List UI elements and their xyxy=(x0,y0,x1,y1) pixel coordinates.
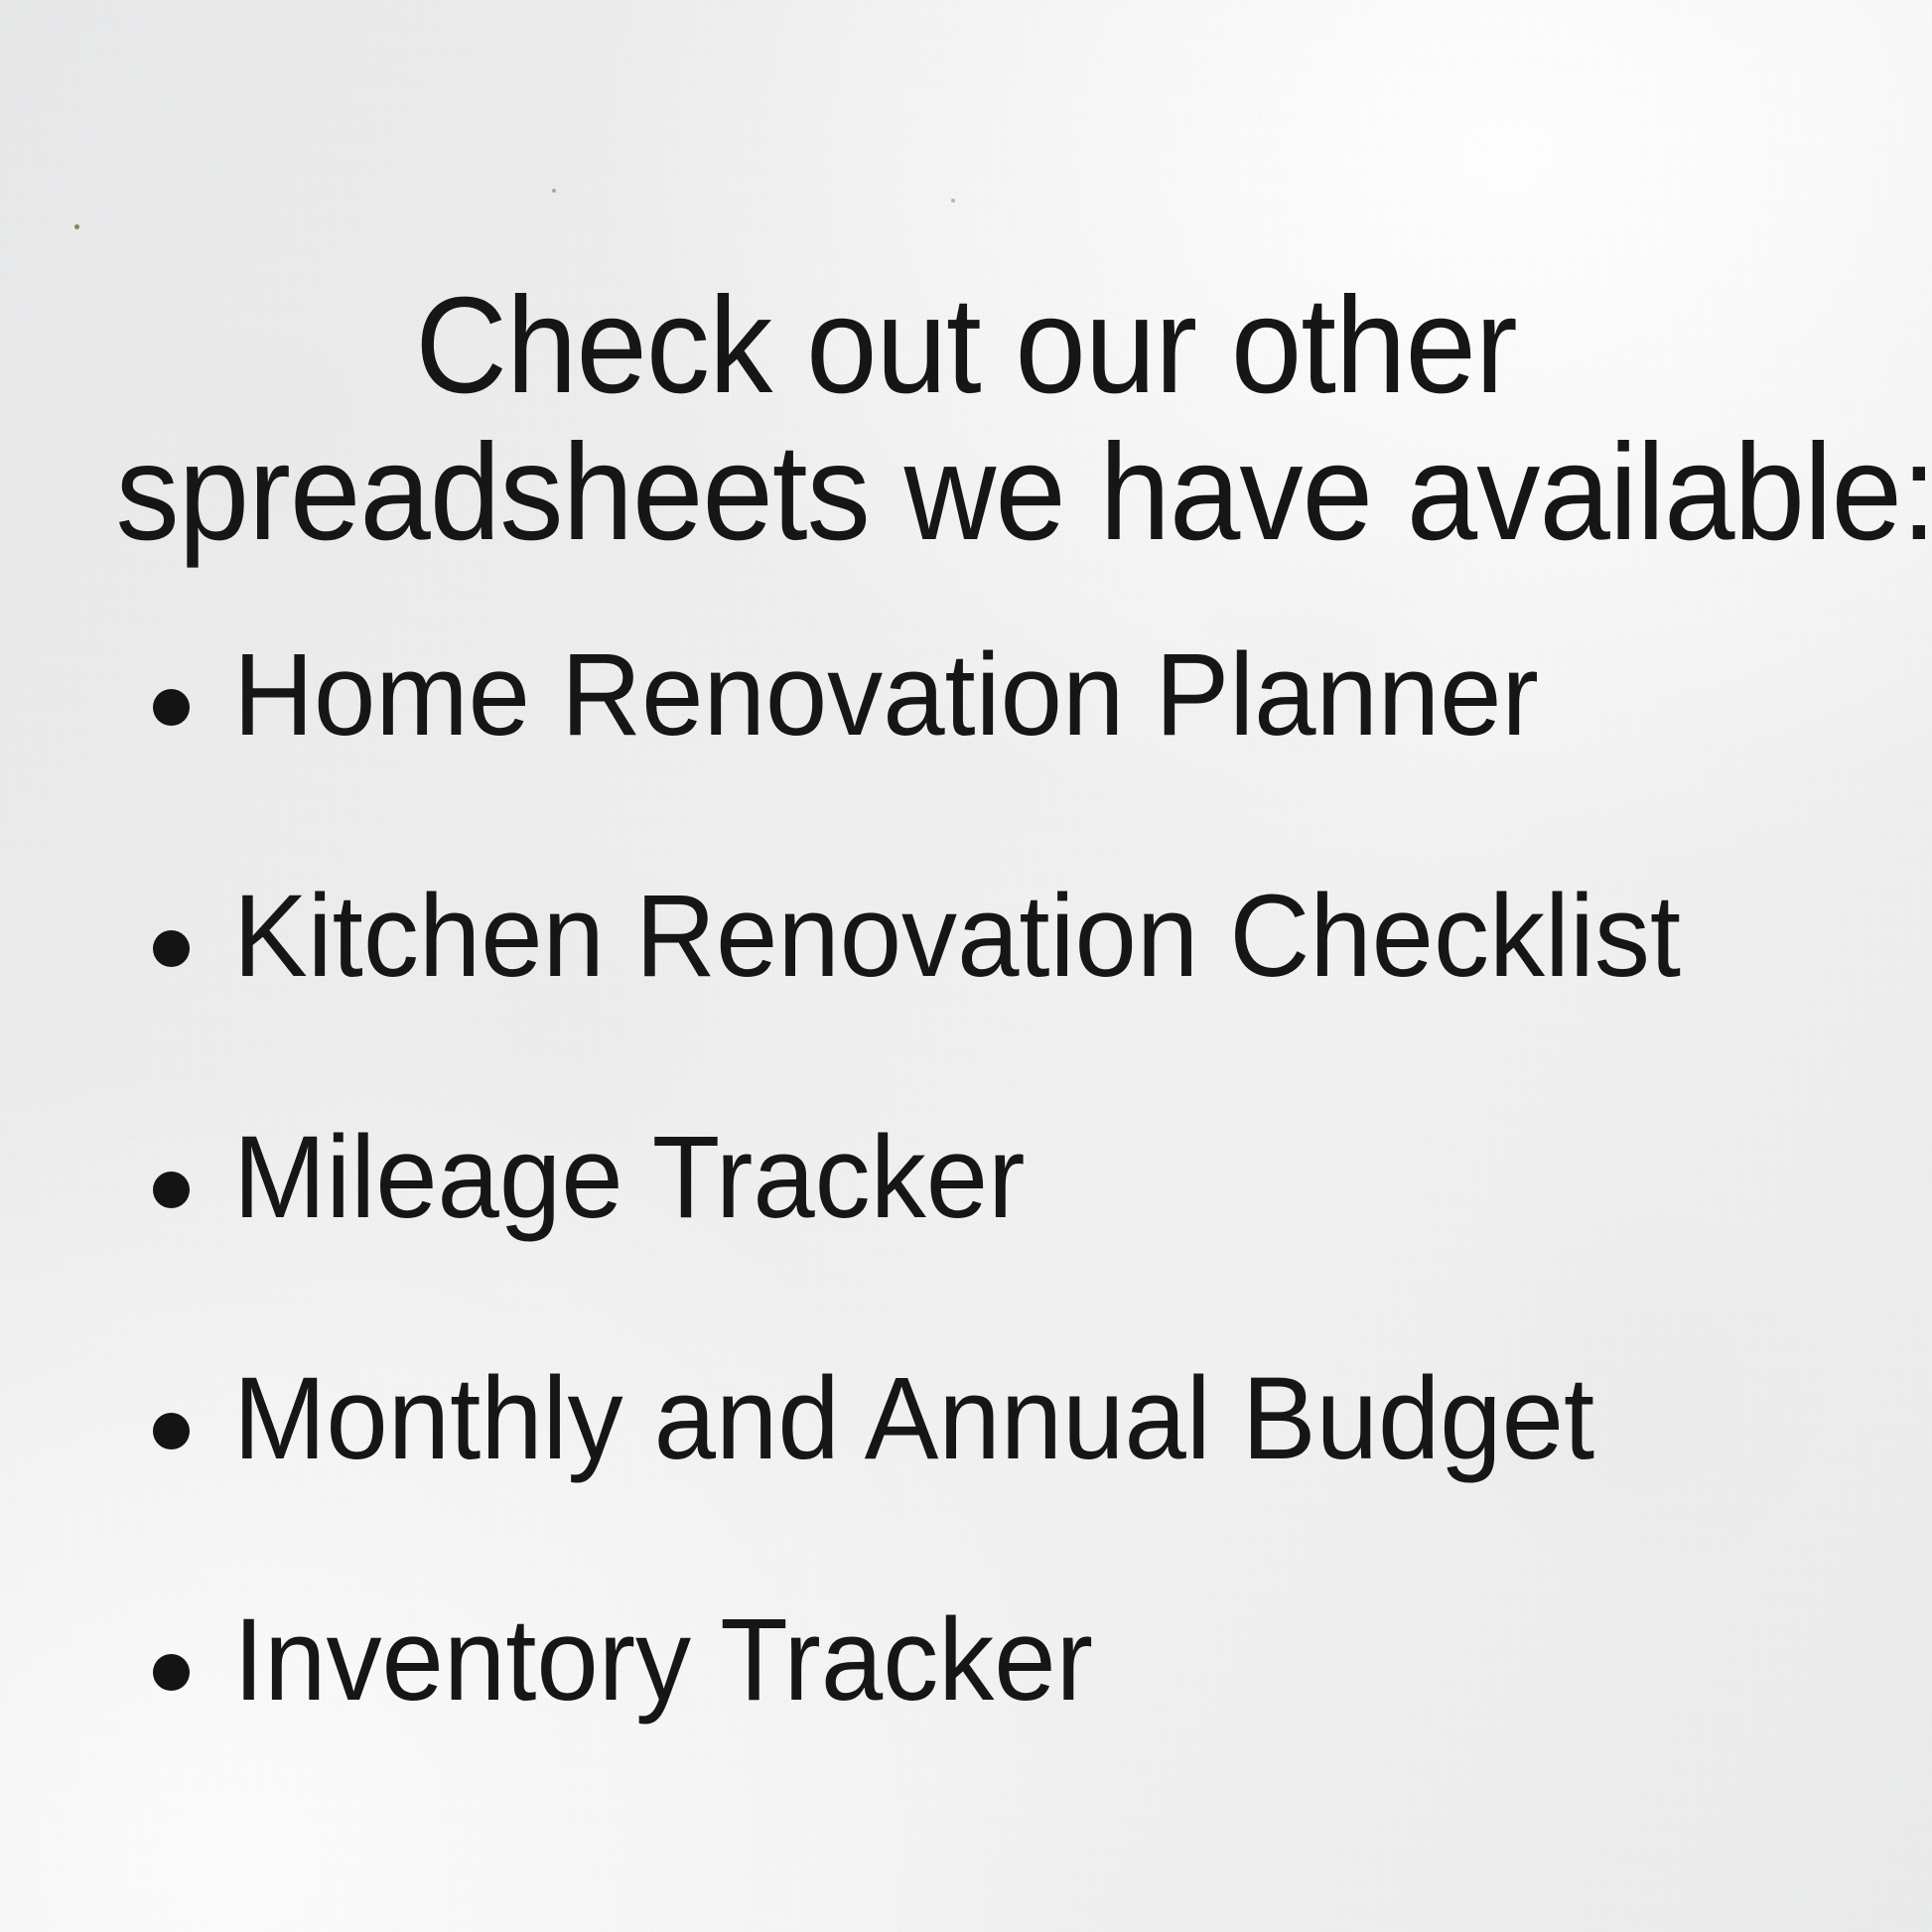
list-item-label: Kitchen Renovation Checklist xyxy=(233,873,1681,1000)
bullet-dot-icon xyxy=(153,930,190,967)
list-item-label: Home Renovation Planner xyxy=(233,631,1539,759)
spreadsheet-list: Home Renovation Planner Kitchen Renovati… xyxy=(151,631,1878,1838)
bullet-dot-icon xyxy=(153,1654,190,1691)
list-item-label: Mileage Tracker xyxy=(233,1114,1025,1241)
list-item: Kitchen Renovation Checklist xyxy=(151,873,1878,1114)
page-title-line-1: Check out our other xyxy=(115,272,1816,419)
list-item: Mileage Tracker xyxy=(151,1114,1878,1355)
bullet-dot-icon xyxy=(153,1413,190,1449)
slide-content: Check out our other spreadsheets we have… xyxy=(0,0,1932,1932)
bullet-dot-icon xyxy=(153,689,190,726)
bullet-dot-icon xyxy=(153,1172,190,1208)
page-title-line-2: spreadsheets we have available: xyxy=(115,419,1816,566)
slide-canvas: Check out our other spreadsheets we have… xyxy=(0,0,1932,1932)
page-title: Check out our other spreadsheets we have… xyxy=(115,272,1816,566)
list-item-label: Inventory Tracker xyxy=(233,1596,1093,1724)
list-item: Home Renovation Planner xyxy=(151,631,1878,873)
list-item-label: Monthly and Annual Budget xyxy=(233,1355,1594,1482)
list-item: Monthly and Annual Budget xyxy=(151,1355,1878,1596)
list-item: Inventory Tracker xyxy=(151,1596,1878,1838)
